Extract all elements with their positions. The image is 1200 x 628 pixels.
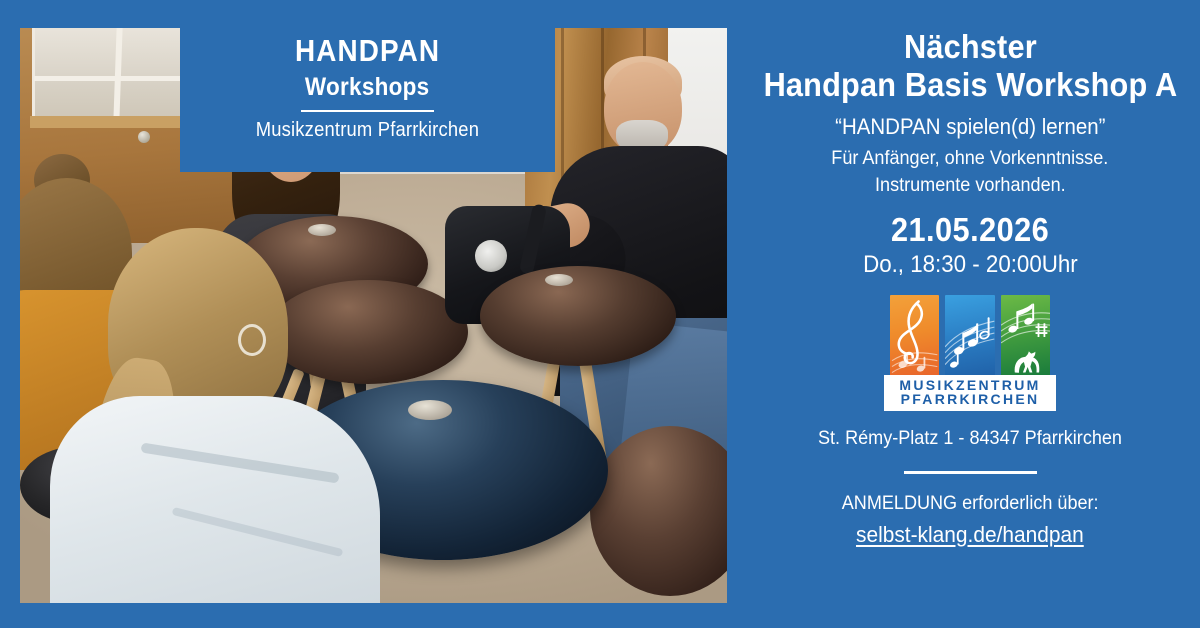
musikzentrum-logo: MUSIKZENTRUM PFARRKIRCHEN <box>884 293 1056 411</box>
photo-blonde-white-shirt <box>50 396 380 603</box>
photo-handpan <box>268 280 468 384</box>
venue-address: St. Rémy-Platz 1 - 84347 Pfarrkirchen <box>818 428 1122 450</box>
photo-handpan-dome <box>308 224 336 236</box>
banner-divider <box>301 110 434 112</box>
event-date: 21.05.2026 <box>891 211 1049 249</box>
logo-name-line-1: MUSIKZENTRUM <box>884 378 1056 392</box>
photo-handpan-dome <box>408 400 452 420</box>
treble-clef-icon <box>890 295 939 379</box>
registration-label: ANMELDUNG erforderlich über: <box>842 493 1099 515</box>
photo-handpan <box>480 266 676 366</box>
registration-url[interactable]: selbst-klang.de/handpan <box>856 522 1084 548</box>
photo-cupboard-knob <box>138 131 150 143</box>
banner-venue: Musikzentrum Pfarrkirchen <box>256 119 479 142</box>
workshop-quote: “HANDPAN spielen(d) lernen” <box>835 114 1105 140</box>
horse-icon <box>1001 295 1050 379</box>
photo-earring <box>238 324 266 356</box>
panel-divider <box>904 471 1037 474</box>
music-notes-icon <box>945 295 994 379</box>
note-line-2: Instrumente vorhanden. <box>875 175 1066 197</box>
headline-line-1: Nächster <box>904 28 1037 66</box>
note-line-1: Für Anfänger, ohne Vorkenntnisse. <box>832 148 1109 170</box>
logo-nameplate: MUSIKZENTRUM PFARRKIRCHEN <box>884 375 1056 411</box>
headline-line-2: Handpan Basis Workshop A <box>763 66 1177 104</box>
banner-subtitle: Workshops <box>305 73 430 102</box>
logo-name-line-2: PFARRKIRCHEN <box>884 392 1056 406</box>
photo-handpan-dome <box>545 274 573 286</box>
poster-canvas: HANDPAN Workshops Musikzentrum Pfarrkirc… <box>0 0 1200 628</box>
header-banner: HANDPAN Workshops Musikzentrum Pfarrkirc… <box>180 28 555 172</box>
event-time: Do., 18:30 - 20:00Uhr <box>863 251 1078 279</box>
photo-backpack-logo <box>475 240 507 272</box>
banner-title: HANDPAN <box>295 34 440 68</box>
logo-panels <box>890 295 1050 379</box>
info-panel: Nächster Handpan Basis Workshop A “HANDP… <box>740 0 1200 628</box>
